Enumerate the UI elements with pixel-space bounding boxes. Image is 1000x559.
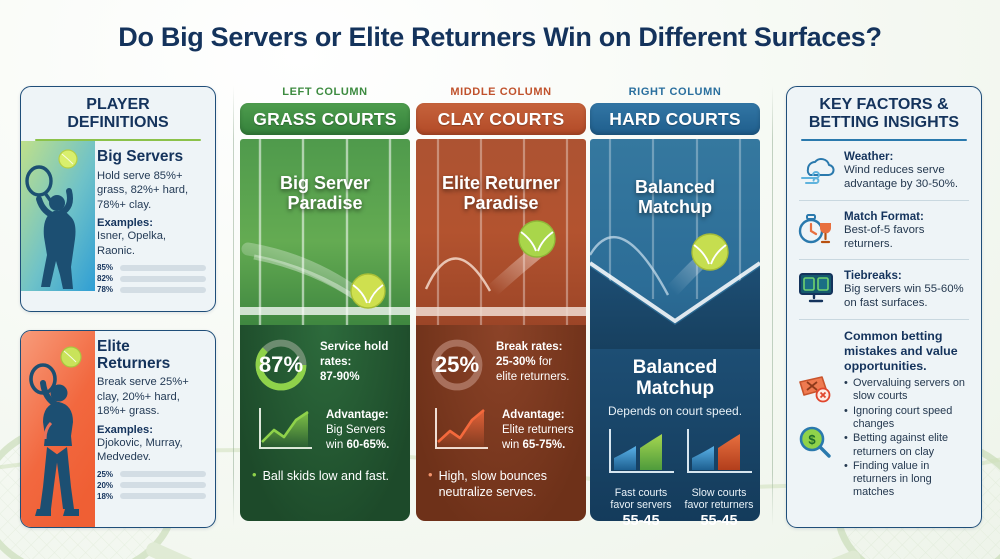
grass-hold-text: Service hold rates: 87-90% xyxy=(320,336,398,386)
bar-label: 82% xyxy=(97,274,116,283)
bar-label: 20% xyxy=(97,481,116,490)
grass-court-illustration: Big Server Paradise xyxy=(240,139,410,325)
big-server-illustration xyxy=(21,141,95,291)
bar-track xyxy=(120,482,206,488)
grass-advantage-label: Advantage: xyxy=(326,409,389,421)
page-title: Do Big Servers or Elite Returners Win on… xyxy=(0,22,1000,53)
grass-bullet: • Ball skids low and fast. xyxy=(252,468,398,484)
bar-track xyxy=(120,493,206,499)
weather-body: Wind reduces serve advantage by 30-50%. xyxy=(844,163,971,192)
big-servers-card: Big Servers Hold serve 85%+ grass, 82%+ … xyxy=(21,141,215,291)
ticket-x-icon xyxy=(796,373,834,403)
key-factor-betting-mistakes: $ Common betting mistakes and value oppo… xyxy=(787,320,981,509)
caption-line-1: Fast courts xyxy=(602,487,680,500)
heading-line-2: BETTING INSIGHTS xyxy=(793,114,975,132)
caption-line-2: favor servers xyxy=(602,499,680,512)
elite-returners-card: Elite Returners Break serve 25%+ clay, 2… xyxy=(21,331,215,527)
player-definitions-panel: PLAYER DEFINITIONS xyxy=(20,86,216,312)
court-label-line-2: Matchup xyxy=(590,197,760,217)
elite-returners-panel: Elite Returners Break serve 25%+ clay, 2… xyxy=(20,330,216,528)
heading-line-1: KEY FACTORS & xyxy=(793,96,975,114)
clay-header: CLAY COURTS xyxy=(416,103,586,135)
tiebreaks-heading: Tiebreaks: xyxy=(844,269,971,282)
heading-line-2: DEFINITIONS xyxy=(27,114,209,132)
caption-line-2: favor returners xyxy=(680,499,758,512)
key-factors-panel: KEY FACTORS & BETTING INSIGHTS Weather: … xyxy=(786,86,982,528)
clay-stats: 25% Break rates: 25-30% for elite return… xyxy=(416,325,586,521)
bar-row: 85% xyxy=(97,263,206,272)
big-servers-text: Big Servers Hold serve 85%+ grass, 82%+ … xyxy=(95,141,215,291)
bar-row: 82% xyxy=(97,274,206,283)
grass-header: GRASS COURTS xyxy=(240,103,410,135)
bar-chart-icon xyxy=(680,426,758,480)
grass-donut-value: 87% xyxy=(259,352,304,377)
grass-stats: 87% Service hold rates: 87-90% xyxy=(240,325,410,521)
bar-track xyxy=(120,287,206,293)
key-factor-weather: Weather: Wind reduces serve advantage by… xyxy=(787,141,981,200)
betting-mistakes-list: Overvaluing servers on slow courts Ignor… xyxy=(844,377,971,500)
grass-advantage-value: 60-65%. xyxy=(346,439,389,451)
key-factor-match-format: Match Format: Best-of-5 favors returners… xyxy=(787,201,981,260)
big-servers-description: Hold serve 85%+ grass, 82%+ hard, 78%+ c… xyxy=(97,169,206,213)
line-chart-icon xyxy=(428,404,492,456)
slow-courts-chart: Slow courts favor returners 55-45 xyxy=(680,426,758,529)
court-label-line-1: Elite Returner xyxy=(416,173,586,193)
court-label-line-1: Big Server xyxy=(240,173,410,193)
bar-row: 18% xyxy=(97,492,206,501)
court-label-line-1: Balanced xyxy=(590,177,760,197)
player-definitions-heading: PLAYER DEFINITIONS xyxy=(21,87,215,137)
hard-court-label: Balanced Matchup xyxy=(590,177,760,217)
grass-court-label: Big Server Paradise xyxy=(240,173,410,213)
hard-summary-subtitle: Depends on court speed. xyxy=(602,404,748,418)
bar-track xyxy=(120,276,206,282)
list-item: Ignoring court speed changes xyxy=(844,405,971,432)
elite-returners-examples: Djokovic, Murray, Medvedev. xyxy=(97,436,206,465)
bar-label: 78% xyxy=(97,285,116,294)
slow-courts-value: 55-45 xyxy=(680,513,758,529)
hard-stats: Balanced Matchup Depends on court speed. xyxy=(590,349,760,521)
grass-stat-heading: Service hold rates: xyxy=(320,341,388,368)
clay-column: MIDDLE COLUMN CLAY COURTS xyxy=(416,86,586,521)
hard-minicharts: Fast courts favor servers 55-45 xyxy=(602,426,748,529)
bar-label: 18% xyxy=(97,492,116,501)
tiebreaks-body: Big servers win 55-60% on fast surfaces. xyxy=(844,282,971,311)
betting-icons: $ xyxy=(796,329,836,501)
clay-bullet: • High, slow bounces neutralize serves. xyxy=(428,468,574,500)
elite-returners-name: Elite Returners xyxy=(97,339,206,372)
weather-heading: Weather: xyxy=(844,150,971,163)
weather-text: Weather: Wind reduces serve advantage by… xyxy=(844,150,971,192)
bar-label: 85% xyxy=(97,263,116,272)
list-item: Finding value in returners in long match… xyxy=(844,460,971,500)
grass-bullet-text: Ball skids low and fast. xyxy=(263,468,389,484)
clay-bullet-text: High, slow bounces neutralize serves. xyxy=(439,468,574,500)
elite-returners-description: Break serve 25%+ clay, 20%+ hard, 18%+ g… xyxy=(97,375,206,419)
match-format-text: Match Format: Best-of-5 favors returners… xyxy=(844,210,971,252)
betting-mistakes-text: Common betting mistakes and value opport… xyxy=(844,329,971,501)
list-item: Overvaluing servers on slow courts xyxy=(844,377,971,404)
bar-row: 78% xyxy=(97,285,206,294)
hard-kicker: RIGHT COLUMN xyxy=(590,86,760,98)
match-format-heading: Match Format: xyxy=(844,210,971,223)
divider-right xyxy=(772,86,773,526)
clay-stat-value: 25-30% xyxy=(496,356,536,368)
clay-court-illustration: Elite Returner Paradise xyxy=(416,139,586,325)
clay-advantage-stat: Advantage: Elite returners win 65-75%. xyxy=(428,404,574,456)
grass-kicker: LEFT COLUMN xyxy=(240,86,410,98)
bar-label: 25% xyxy=(97,470,116,479)
grass-donut-chart: 87% xyxy=(252,336,310,394)
grass-advantage-text: Advantage: Big Servers win 60-65%. xyxy=(326,404,398,454)
magnifier-dollar-icon: $ xyxy=(796,425,834,459)
clay-donut-value: 25% xyxy=(435,352,480,377)
hard-court-illustration: Balanced Matchup xyxy=(590,139,760,349)
clay-donut-chart: 25% xyxy=(428,336,486,394)
stopwatch-trophy-icon xyxy=(796,210,836,252)
clay-court-label: Elite Returner Paradise xyxy=(416,173,586,213)
fast-courts-caption: Fast courts favor servers xyxy=(602,487,680,512)
big-servers-examples: Isner, Opelka, Raonic. xyxy=(97,229,206,258)
clay-kicker: MIDDLE COLUMN xyxy=(416,86,586,98)
key-factor-tiebreaks: Tiebreaks: Big servers win 55-60% on fas… xyxy=(787,260,981,319)
clay-advantage-text: Advantage: Elite returners win 65-75%. xyxy=(502,404,574,454)
grass-advantage-stat: Advantage: Big Servers win 60-65%. xyxy=(252,404,398,456)
list-item: Betting against elite returners on clay xyxy=(844,432,971,459)
clay-break-text: Break rates: 25-30% for elite returners. xyxy=(496,336,574,386)
bar-track xyxy=(120,471,206,477)
grass-column: LEFT COLUMN GRASS COURTS xyxy=(240,86,410,521)
hard-summary-line-1: Balanced xyxy=(602,358,748,379)
grass-hold-rate-stat: 87% Service hold rates: 87-90% xyxy=(252,336,398,394)
clay-advantage-label: Advantage: xyxy=(502,409,565,421)
key-factors-heading: KEY FACTORS & BETTING INSIGHTS xyxy=(787,87,981,137)
divider-left xyxy=(233,86,234,526)
elite-returners-examples-label: Examples: xyxy=(97,424,206,436)
svg-text:$: $ xyxy=(808,432,816,447)
line-chart-icon xyxy=(252,404,316,456)
betting-mistakes-heading: Common betting mistakes and value opport… xyxy=(844,329,971,374)
court-label-line-2: Paradise xyxy=(416,193,586,213)
fast-courts-chart: Fast courts favor servers 55-45 xyxy=(602,426,680,529)
clay-break-rate-stat: 25% Break rates: 25-30% for elite return… xyxy=(428,336,574,394)
slow-courts-caption: Slow courts favor returners xyxy=(680,487,758,512)
clay-stat-heading: Break rates: xyxy=(496,341,562,353)
elite-returner-illustration xyxy=(21,331,95,527)
bar-chart-icon xyxy=(602,426,680,480)
caption-line-1: Slow courts xyxy=(680,487,758,500)
heading-line-1: PLAYER xyxy=(27,96,209,114)
bar-row: 25% xyxy=(97,470,206,479)
tiebreaks-text: Tiebreaks: Big servers win 55-60% on fas… xyxy=(844,269,971,311)
match-format-body: Best-of-5 favors returners. xyxy=(844,223,971,252)
bullet-dot-icon: • xyxy=(252,468,257,484)
hard-summary-title: Balanced Matchup xyxy=(602,358,748,400)
bar-row: 20% xyxy=(97,481,206,490)
elite-returners-text: Elite Returners Break serve 25%+ clay, 2… xyxy=(95,331,215,527)
hard-column: RIGHT COLUMN HARD COURTS xyxy=(590,86,760,521)
big-servers-bars: 85% 82% 78% xyxy=(97,263,206,294)
bar-track xyxy=(120,265,206,271)
big-servers-name: Big Servers xyxy=(97,149,206,166)
big-servers-examples-label: Examples: xyxy=(97,217,206,229)
elite-returners-bars: 25% 20% 18% xyxy=(97,470,206,501)
bullet-dot-icon: • xyxy=(428,468,433,500)
clay-advantage-value: 65-75%. xyxy=(522,439,565,451)
hard-header: HARD COURTS xyxy=(590,103,760,135)
grass-stat-value: 87-90% xyxy=(320,371,360,383)
scoreboard-icon xyxy=(796,269,836,311)
fast-courts-value: 55-45 xyxy=(602,513,680,529)
court-label-line-2: Paradise xyxy=(240,193,410,213)
wind-cloud-icon xyxy=(796,150,836,192)
hard-summary-line-2: Matchup xyxy=(602,379,748,400)
